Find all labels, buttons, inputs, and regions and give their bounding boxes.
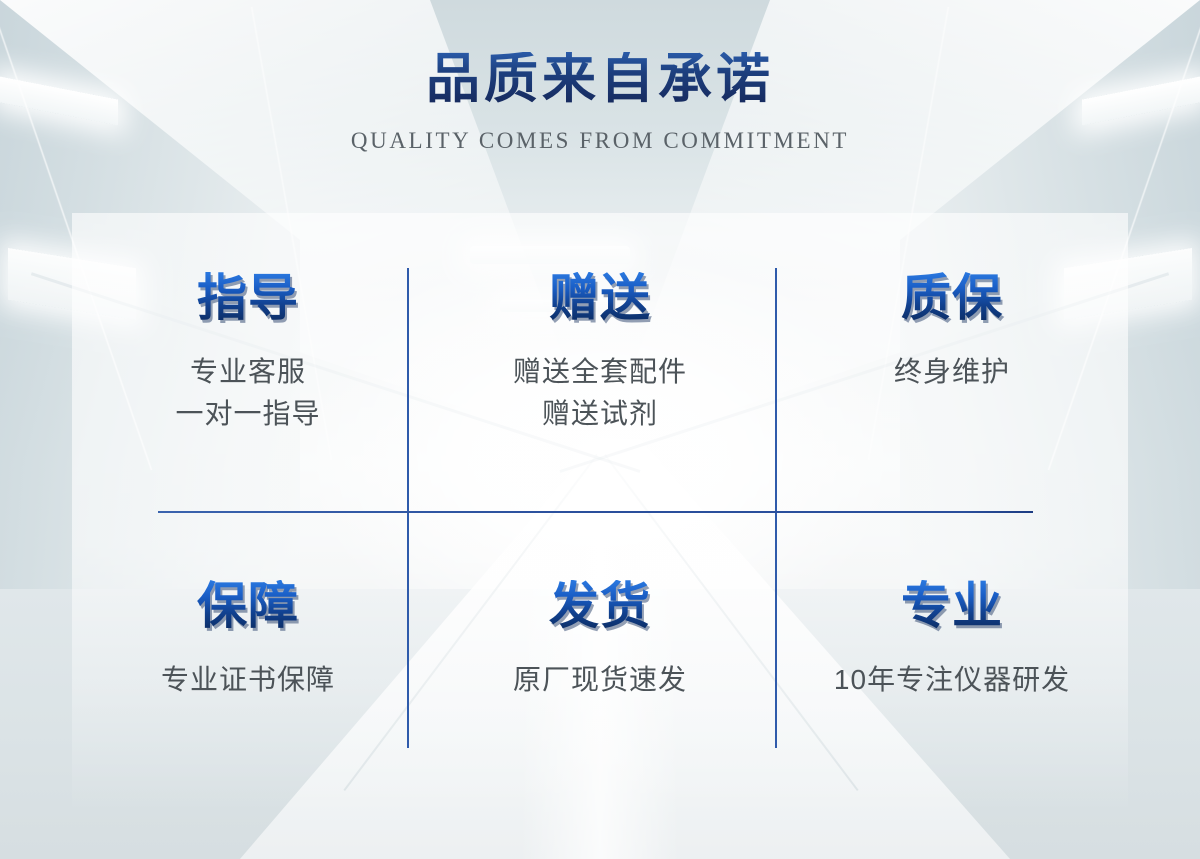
feature-description-line: 原厂现货速发 [513,659,687,701]
page-title: 品质来自承诺 [426,52,774,106]
feature-keyword: 发货 [549,580,651,633]
feature-cell-warranty[interactable]: 质保 终身维护 [776,250,1128,510]
feature-grid: 指导 专业客服 一对一指导 赠送 赠送全套配件 赠送试剂 质保 终身维护 保障 … [72,250,1128,770]
feature-keyword: 赠送 [549,272,651,325]
feature-keyword: 专业 [901,580,1003,633]
feature-description-line: 10年专注仪器研发 [834,659,1070,701]
feature-keyword: 质保 [901,272,1003,325]
feature-keyword: 指导 [197,272,299,325]
feature-description: 专业证书保障 [161,659,335,701]
feature-cell-assurance[interactable]: 保障 专业证书保障 [72,510,424,770]
feature-description: 10年专注仪器研发 [834,659,1070,701]
feature-keyword: 保障 [197,580,299,633]
feature-cell-professional[interactable]: 专业 10年专注仪器研发 [776,510,1128,770]
feature-description: 终身维护 [894,351,1010,393]
feature-description: 原厂现货速发 [513,659,687,701]
feature-description: 赠送全套配件 赠送试剂 [513,351,687,435]
feature-cell-gift[interactable]: 赠送 赠送全套配件 赠送试剂 [424,250,776,510]
feature-description-line: 一对一指导 [175,393,320,435]
page-header: 品质来自承诺 QUALITY COMES FROM COMMITMENT [0,52,1200,154]
feature-description-line: 赠送试剂 [513,393,687,435]
feature-description-line: 专业证书保障 [161,659,335,701]
feature-cell-shipping[interactable]: 发货 原厂现货速发 [424,510,776,770]
feature-cell-guidance[interactable]: 指导 专业客服 一对一指导 [72,250,424,510]
feature-description-line: 专业客服 [175,351,320,393]
feature-description-line: 赠送全套配件 [513,351,687,393]
feature-description-line: 终身维护 [894,351,1010,393]
page-subtitle: QUALITY COMES FROM COMMITMENT [0,128,1200,154]
feature-description: 专业客服 一对一指导 [175,351,320,435]
